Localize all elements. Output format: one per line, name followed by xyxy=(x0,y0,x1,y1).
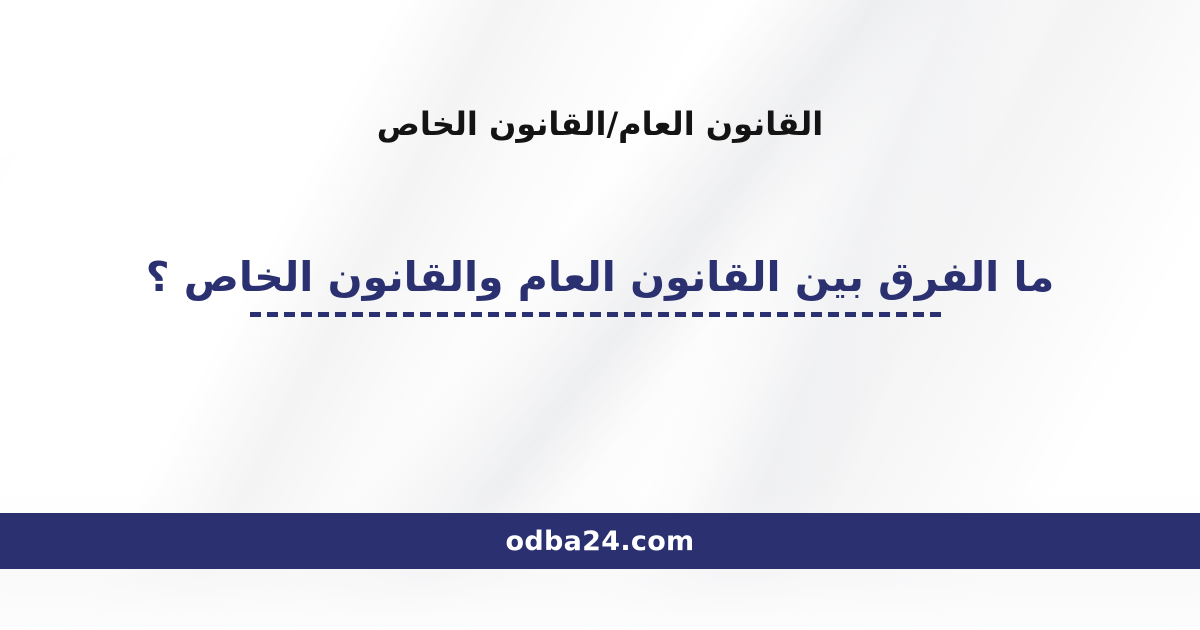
category-title: القانون العام/القانون الخاص xyxy=(0,103,1200,145)
brand-website-label: odba24.com xyxy=(506,526,695,557)
footer-bar: odba24.com xyxy=(0,513,1200,569)
poster-canvas: القانون العام/القانون الخاص ما الفرق بين… xyxy=(0,0,1200,630)
poster-content: القانون العام/القانون الخاص ما الفرق بين… xyxy=(0,0,1200,630)
page-title: ما الفرق بين القانون العام والقانون الخا… xyxy=(0,251,1200,304)
dashed-divider xyxy=(250,312,946,317)
